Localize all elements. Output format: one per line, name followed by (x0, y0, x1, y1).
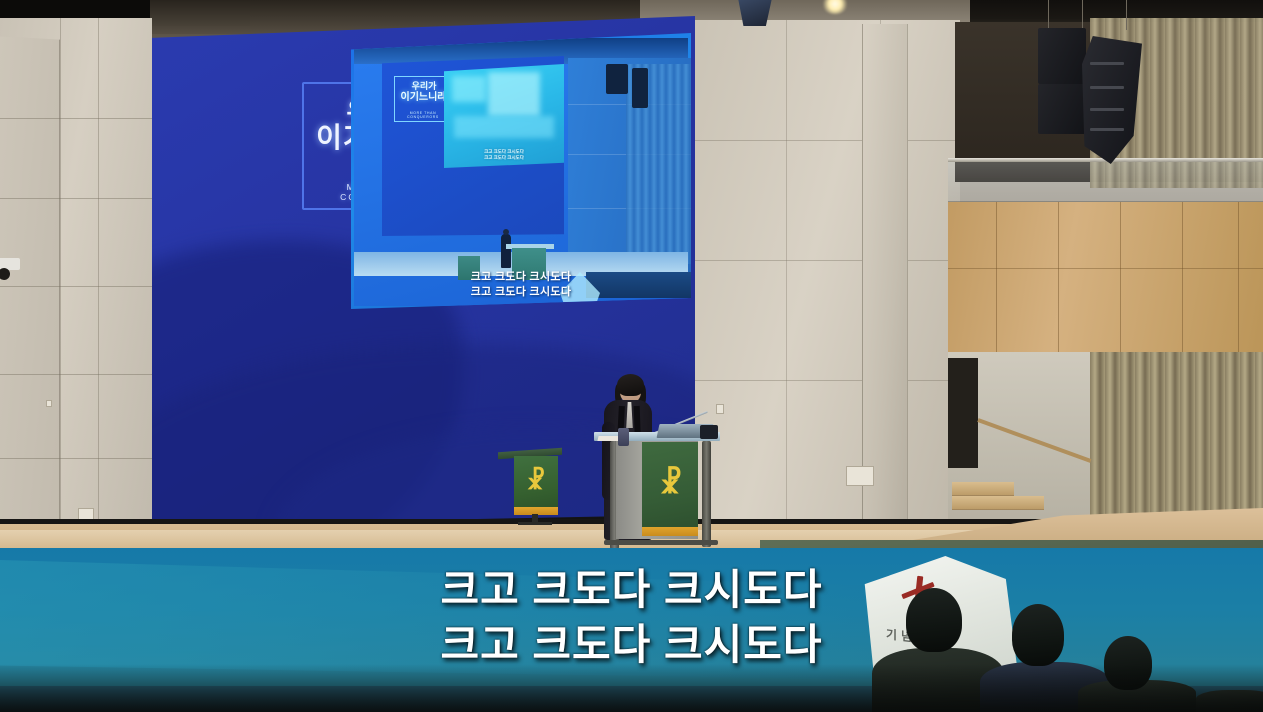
center-wall (690, 20, 960, 560)
feed-speaker-icon (606, 64, 628, 94)
balcony-glass-railing (948, 162, 1263, 202)
audience-member-head (906, 588, 962, 652)
stair-step (952, 496, 1044, 510)
chi-rho-icon: ☧ (656, 470, 686, 499)
wood-wall-panels (948, 202, 1263, 354)
projected-camera-feed: 우리가 이기느니라 MORE THAN CONQUERORS 그러나 이 모든 … (351, 33, 691, 309)
feed-title-line1: 우리가 (399, 82, 449, 91)
stage-curtain-right (1090, 352, 1263, 532)
audience-member-head (1012, 604, 1064, 666)
chi-rho-icon: ☧ (524, 470, 548, 494)
feed-preacher (501, 234, 511, 268)
pulpit-device (700, 425, 718, 439)
line-array-speaker-icon (1038, 84, 1086, 134)
livestream-frame: 우리가 이기느니라 MORE THAN CONQUERORS 그러나 이 모든 … (0, 0, 1263, 712)
left-wall (0, 18, 152, 574)
line-array-speaker-icon (1038, 28, 1086, 84)
feed-led-wall: 우리가 이기느니라 MORE THAN CONQUERORS 그러나 이 모든 … (382, 56, 564, 236)
speaker-suspension-cable (1126, 0, 1127, 30)
pulpit-gold-band (642, 527, 698, 536)
feed-nested-caption: 크고 크도다 크시도다 크고 크도다 크시도다 (444, 149, 564, 163)
left-wall-angled-panel (0, 36, 60, 559)
feed-title-card: 우리가 이기느니라 MORE THAN CONQUERORS (394, 76, 452, 122)
lectern-foot (518, 522, 552, 525)
preacher-hair-top (617, 374, 644, 396)
feed-nested-caption-line2: 크고 크도다 크시도다 (444, 155, 564, 162)
feed-nested-projection: 크고 크도다 크시도다 크고 크도다 크시도다 (444, 64, 564, 168)
small-lectern: ☧ (498, 450, 562, 524)
center-wall-panel (846, 466, 874, 486)
feed-subtitle: 크고 크도다 크시도다 크고 크도다 크시도다 (354, 270, 688, 300)
feed-subtitle-line1: 크고 크도다 크시도다 (354, 270, 688, 285)
feed-title-line3: 이기느니라 (397, 93, 450, 103)
feed-title-english: MORE THAN CONQUERORS (395, 111, 451, 119)
center-wall-outlet (716, 404, 724, 414)
microphone-unit-icon (618, 428, 629, 446)
left-wall-outlet (46, 400, 52, 407)
alcove-dark-recess (948, 358, 978, 468)
pulpit-leg (702, 441, 711, 547)
pulpit-base (604, 540, 718, 545)
stair-step (952, 482, 1014, 496)
feed-subtitle-line2: 크고 크도다 크시도다 (354, 285, 688, 300)
frame-vignette (0, 664, 1263, 712)
pulpit: ☧ (594, 432, 720, 544)
feed-speaker-icon (632, 68, 648, 108)
